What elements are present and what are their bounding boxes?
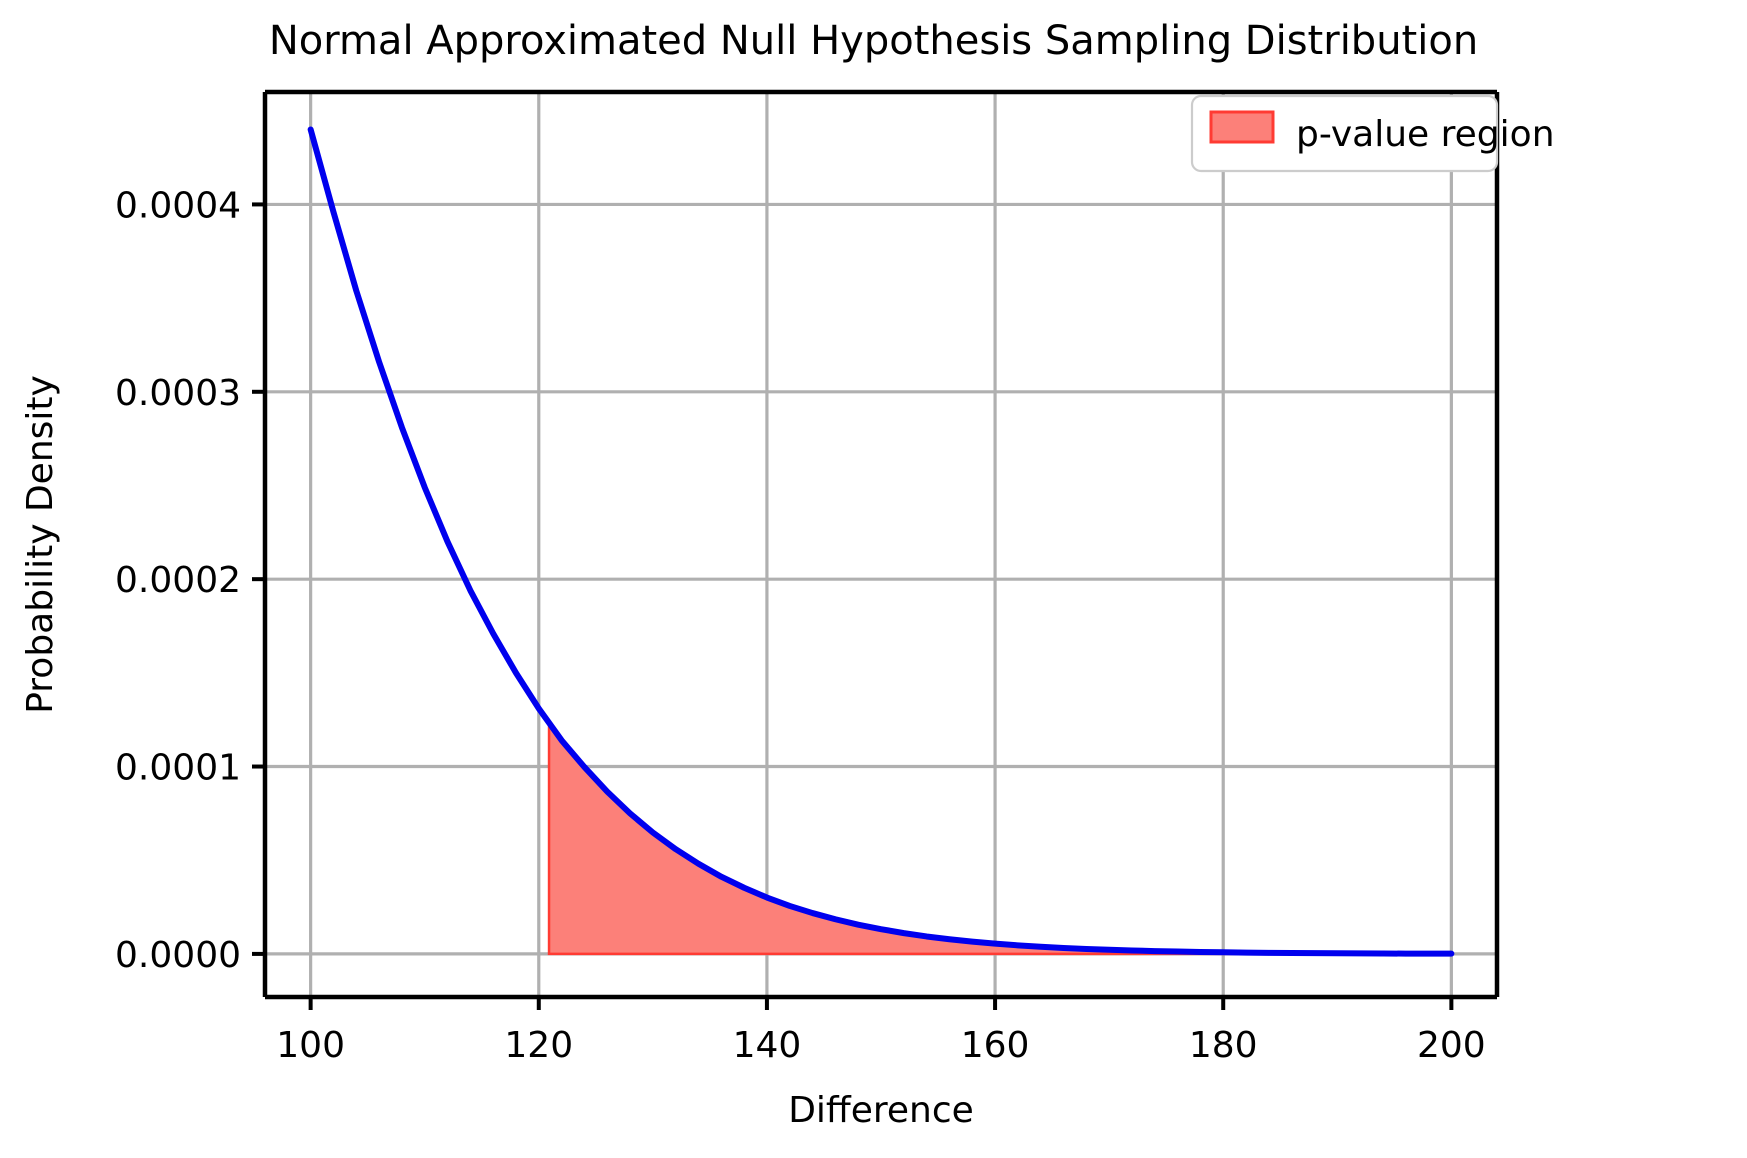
tick-marks [252, 204, 1451, 1010]
legend[interactable]: p-value region [1192, 96, 1555, 171]
x-axis-label: Difference [788, 1090, 974, 1131]
y-axis-label: Probability Density [20, 375, 61, 714]
density-curve [311, 129, 1452, 953]
x-tick-label: 120 [504, 1025, 573, 1066]
y-tick-label: 0.0004 [115, 185, 241, 226]
grid-horizontal [265, 204, 1497, 953]
x-tick-labels: 100120140160180200 [276, 1025, 1485, 1066]
y-tick-label: 0.0002 [115, 560, 241, 601]
p-value-region [549, 723, 1451, 954]
x-tick-label: 100 [276, 1025, 345, 1066]
legend-label-p-value-region: p-value region [1296, 114, 1555, 155]
x-tick-label: 140 [733, 1025, 802, 1066]
x-tick-label: 160 [961, 1025, 1030, 1066]
chart-figure: Normal Approximated Null Hypothesis Samp… [0, 0, 1747, 1158]
y-tick-labels: 0.00000.00010.00020.00030.0004 [115, 185, 241, 975]
legend-swatch-p-value-region [1211, 112, 1273, 142]
y-tick-label: 0.0003 [115, 373, 241, 414]
y-tick-label: 0.0001 [115, 748, 241, 789]
x-tick-label: 180 [1189, 1025, 1258, 1066]
plot-canvas: 100120140160180200 0.00000.00010.00020.0… [0, 0, 1747, 1158]
grid-vertical [311, 92, 1452, 997]
x-tick-label: 200 [1417, 1025, 1486, 1066]
y-tick-label: 0.0000 [115, 935, 241, 976]
